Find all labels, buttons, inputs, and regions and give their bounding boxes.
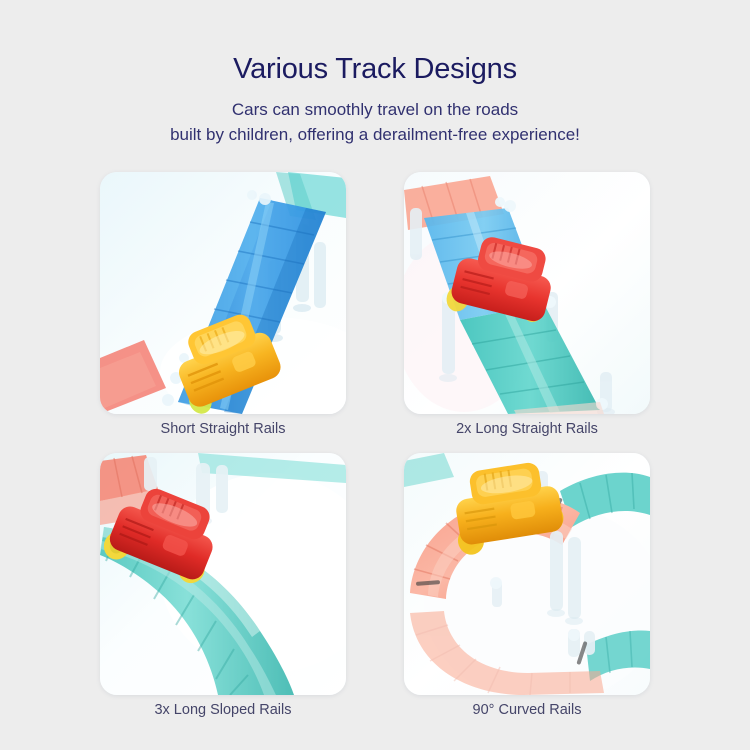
caption-short-straight-rails: Short Straight Rails (100, 421, 346, 438)
tile-3x-long-sloped-rails[interactable]: 3x Long Sloped Rails (100, 453, 346, 719)
photo-90-curved-rails[interactable] (404, 453, 650, 695)
caption-90-curved-rails: 90° Curved Rails (404, 702, 650, 719)
photo-2x-long-straight-rails[interactable] (404, 172, 650, 414)
product-feature-page: Various Track Designs Cars can smoothly … (0, 0, 750, 750)
caption-2x-long-straight-rails: 2x Long Straight Rails (404, 421, 650, 438)
photo-short-straight-rails[interactable] (100, 172, 346, 414)
track-design-grid: Short Straight Rails (100, 172, 650, 720)
page-header: Various Track Designs Cars can smoothly … (0, 0, 750, 147)
tile-short-straight-rails[interactable]: Short Straight Rails (100, 172, 346, 438)
tile-90-curved-rails[interactable]: 90° Curved Rails (404, 453, 650, 719)
photo-3x-long-sloped-rails[interactable] (100, 453, 346, 695)
subtitle-line-1: Cars can smoothly travel on the roads (0, 98, 750, 123)
page-title: Various Track Designs (0, 54, 750, 86)
subtitle-line-2: built by children, offering a derailment… (0, 123, 750, 148)
tile-2x-long-straight-rails[interactable]: 2x Long Straight Rails (404, 172, 650, 438)
page-subtitle: Cars can smoothly travel on the roads bu… (0, 98, 750, 147)
caption-3x-long-sloped-rails: 3x Long Sloped Rails (100, 702, 346, 719)
